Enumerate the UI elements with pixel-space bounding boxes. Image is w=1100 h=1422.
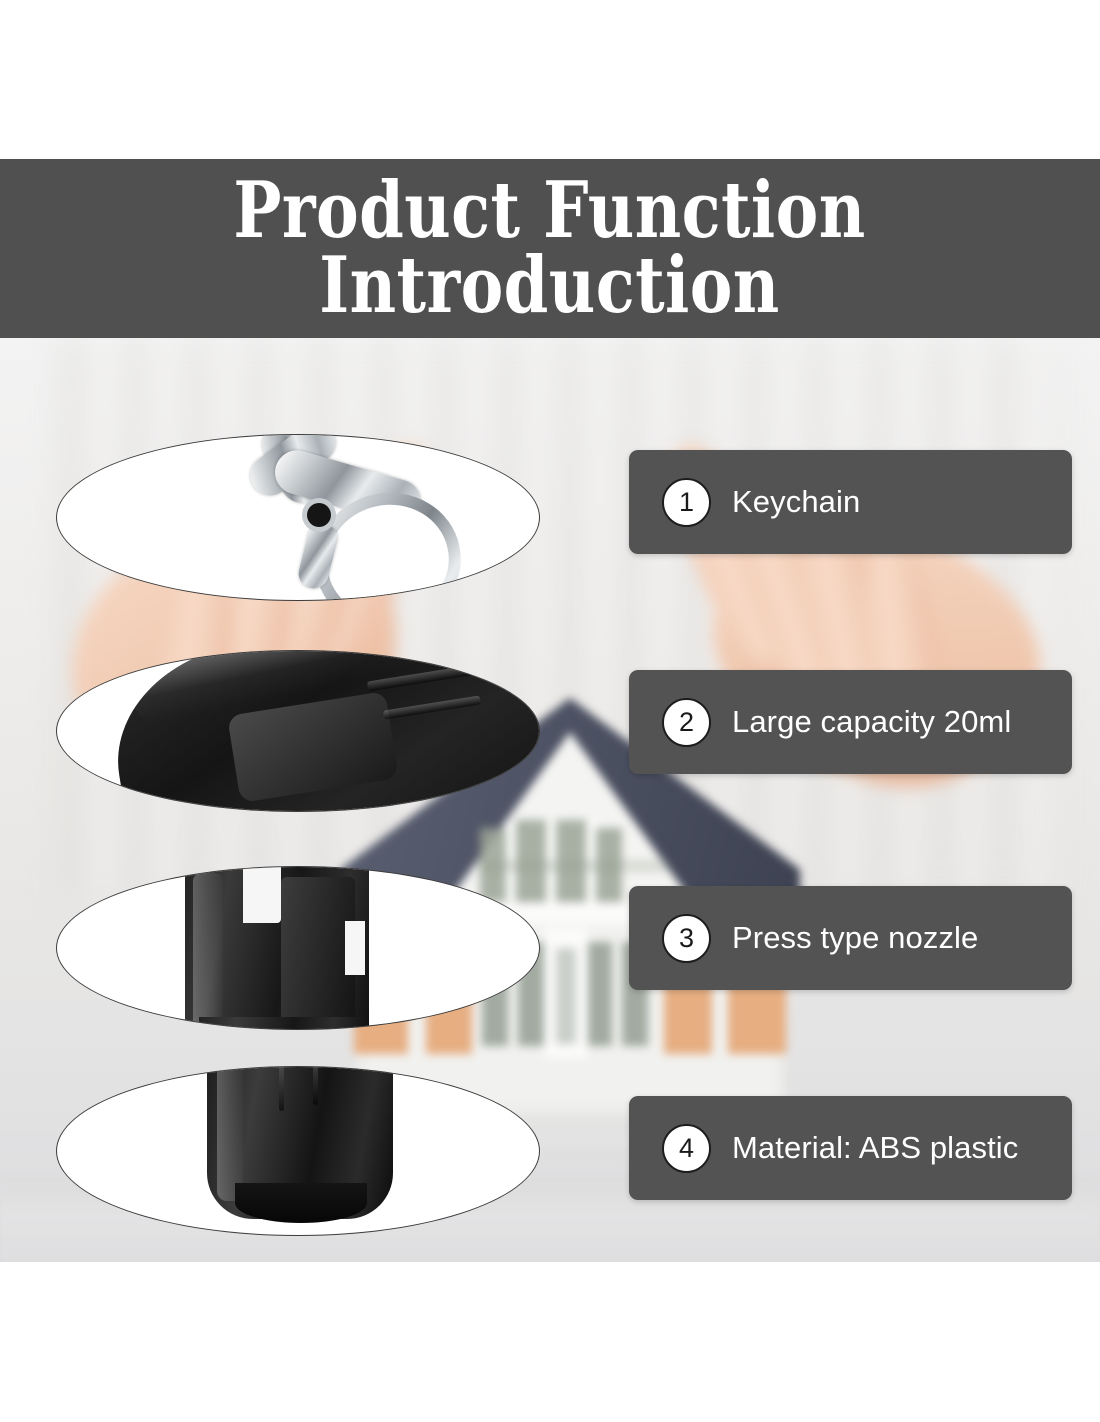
base-seam [279,1066,284,1111]
bottom-white-strip [0,1262,1100,1422]
feature-number-badge-2: 2 [662,698,711,747]
bottle-base-photo [57,1067,539,1235]
nozzle-gap [345,921,365,975]
nozzle-collar [199,1017,369,1030]
press-nozzle-photo [57,867,539,1029]
callout-oval-nozzle [56,866,540,1030]
header-banner: Product Function Introduction [0,159,1100,338]
feature-label-2[interactable]: 2 Large capacity 20ml [629,670,1072,774]
base-highlight [217,1066,243,1201]
feature-number-badge-4: 4 [662,1124,711,1173]
callout-oval-keychain [56,434,540,601]
keychain-clasp-photo [57,435,539,600]
product-infographic: Product Function Introduction [0,0,1100,1422]
callout-oval-base [56,1066,540,1236]
house-door-glass [556,948,576,1044]
feature-label-text-2: Large capacity 20ml [732,704,1011,740]
feature-label-3[interactable]: 3 Press type nozzle [629,886,1072,990]
clasp-rivet [307,503,331,527]
feature-label-1[interactable]: 1 Keychain [629,450,1072,554]
feature-number-badge-1: 1 [662,478,711,527]
callout-oval-bottle-body [56,650,540,812]
bottle-body-photo [57,651,539,811]
nozzle-highlight [193,873,223,1030]
feature-label-4[interactable]: 4 Material: ABS plastic [629,1096,1072,1200]
feature-label-text-1: Keychain [732,484,860,520]
nozzle-notch [243,866,281,923]
base-bottom [235,1183,367,1223]
feature-number-badge-3: 3 [662,914,711,963]
page-title: Product Function Introduction [226,174,875,324]
background-photo: 1 Keychain 2 Large capacity 20ml 3 Press… [0,338,1100,1262]
nozzle-tab [281,877,355,1027]
house-window [586,942,612,1046]
feature-label-text-3: Press type nozzle [732,920,978,956]
base-seam [313,1066,318,1105]
feature-label-text-4: Material: ABS plastic [732,1130,1018,1166]
